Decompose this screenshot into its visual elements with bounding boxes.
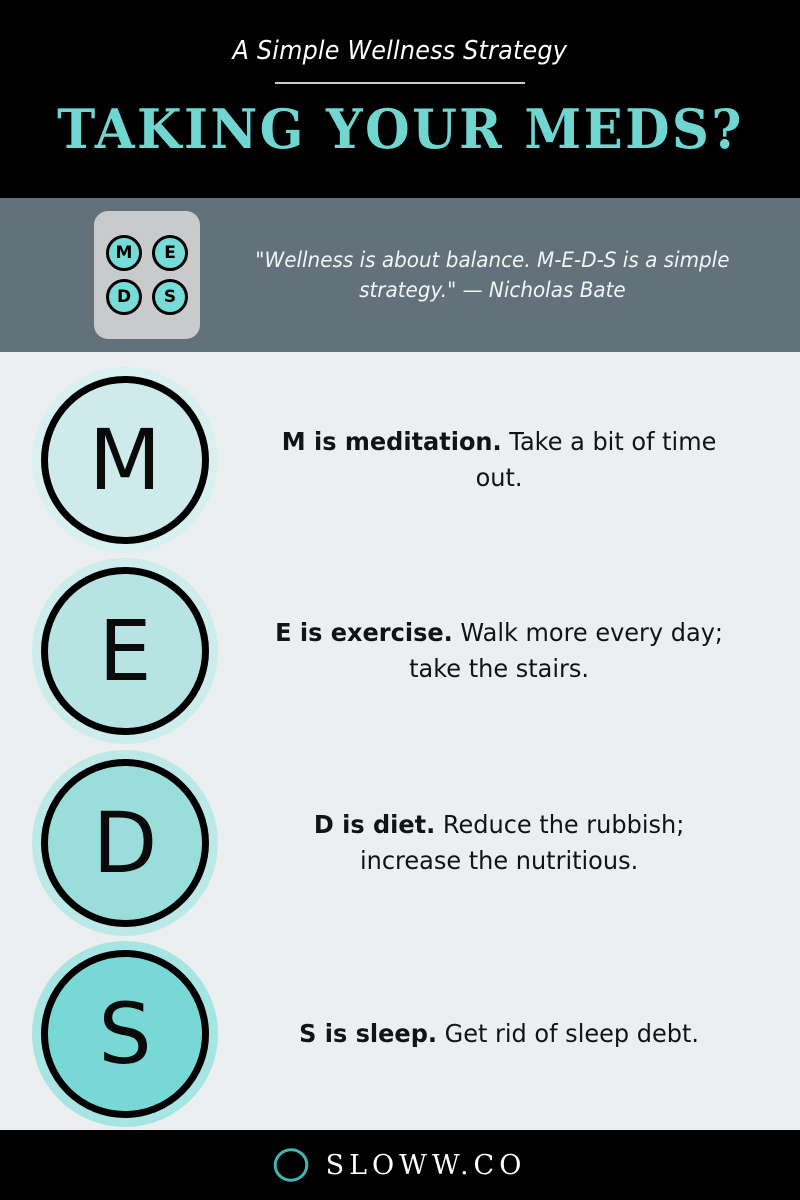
circle-wrap-e: E xyxy=(0,567,250,735)
row-lead-meditation: M is meditation. xyxy=(282,427,502,456)
quote-band: M E D S "Wellness is about balance. M-E-… xyxy=(0,198,800,352)
brand-name: SLOWW.CO xyxy=(326,1152,527,1179)
row-rest-meditation: Take a bit of time out. xyxy=(476,427,717,492)
list-item-exercise: E E is exercise. Walk more every day; ta… xyxy=(0,556,800,748)
letter-circle-m: M xyxy=(41,376,209,544)
page-title: TAKING YOUR MEDS? xyxy=(57,102,744,156)
footer-band: SLOWW.CO xyxy=(0,1130,800,1200)
mini-circle-s: S xyxy=(152,279,188,315)
row-text-exercise: E is exercise. Walk more every day; take… xyxy=(261,615,789,688)
row-rest-exercise: Walk more every day; take the stairs. xyxy=(409,618,723,683)
mini-circle-d: D xyxy=(106,279,142,315)
header-subtitle: A Simple Wellness Strategy xyxy=(233,38,568,64)
meds-icon-tile: M E D S xyxy=(94,211,200,339)
mini-circle-m: M xyxy=(106,235,142,271)
header-band: A Simple Wellness Strategy TAKING YOUR M… xyxy=(0,0,800,198)
list-item-meditation: M M is meditation. Take a bit of time ou… xyxy=(0,364,800,556)
infographic-page: A Simple Wellness Strategy TAKING YOUR M… xyxy=(0,0,800,1200)
row-lead-exercise: E is exercise. xyxy=(275,618,453,647)
row-rest-sleep: Get rid of sleep debt. xyxy=(437,1019,699,1048)
letter-circle-d: D xyxy=(41,759,209,927)
header-divider xyxy=(275,82,525,84)
quote-text: "Wellness is about balance. M-E-D-S is a… xyxy=(215,245,785,306)
circle-wrap-s: S xyxy=(0,950,250,1118)
mini-circle-e: E xyxy=(152,235,188,271)
row-lead-sleep: S is sleep. xyxy=(299,1019,437,1048)
meds-list: M M is meditation. Take a bit of time ou… xyxy=(0,352,800,1130)
row-text-sleep: S is sleep. Get rid of sleep debt. xyxy=(261,1016,789,1052)
row-lead-diet: D is diet. xyxy=(314,810,435,839)
list-item-sleep: S S is sleep. Get rid of sleep debt. xyxy=(0,939,800,1131)
list-item-diet: D D is diet. Reduce the rubbish; increas… xyxy=(0,747,800,939)
circle-wrap-d: D xyxy=(0,759,250,927)
letter-circle-e: E xyxy=(41,567,209,735)
sloww-ring-icon xyxy=(271,1146,310,1184)
row-text-meditation: M is meditation. Take a bit of time out. xyxy=(261,424,789,497)
circle-wrap-m: M xyxy=(0,376,250,544)
letter-circle-s: S xyxy=(41,950,209,1118)
row-text-diet: D is diet. Reduce the rubbish; increase … xyxy=(261,807,789,880)
